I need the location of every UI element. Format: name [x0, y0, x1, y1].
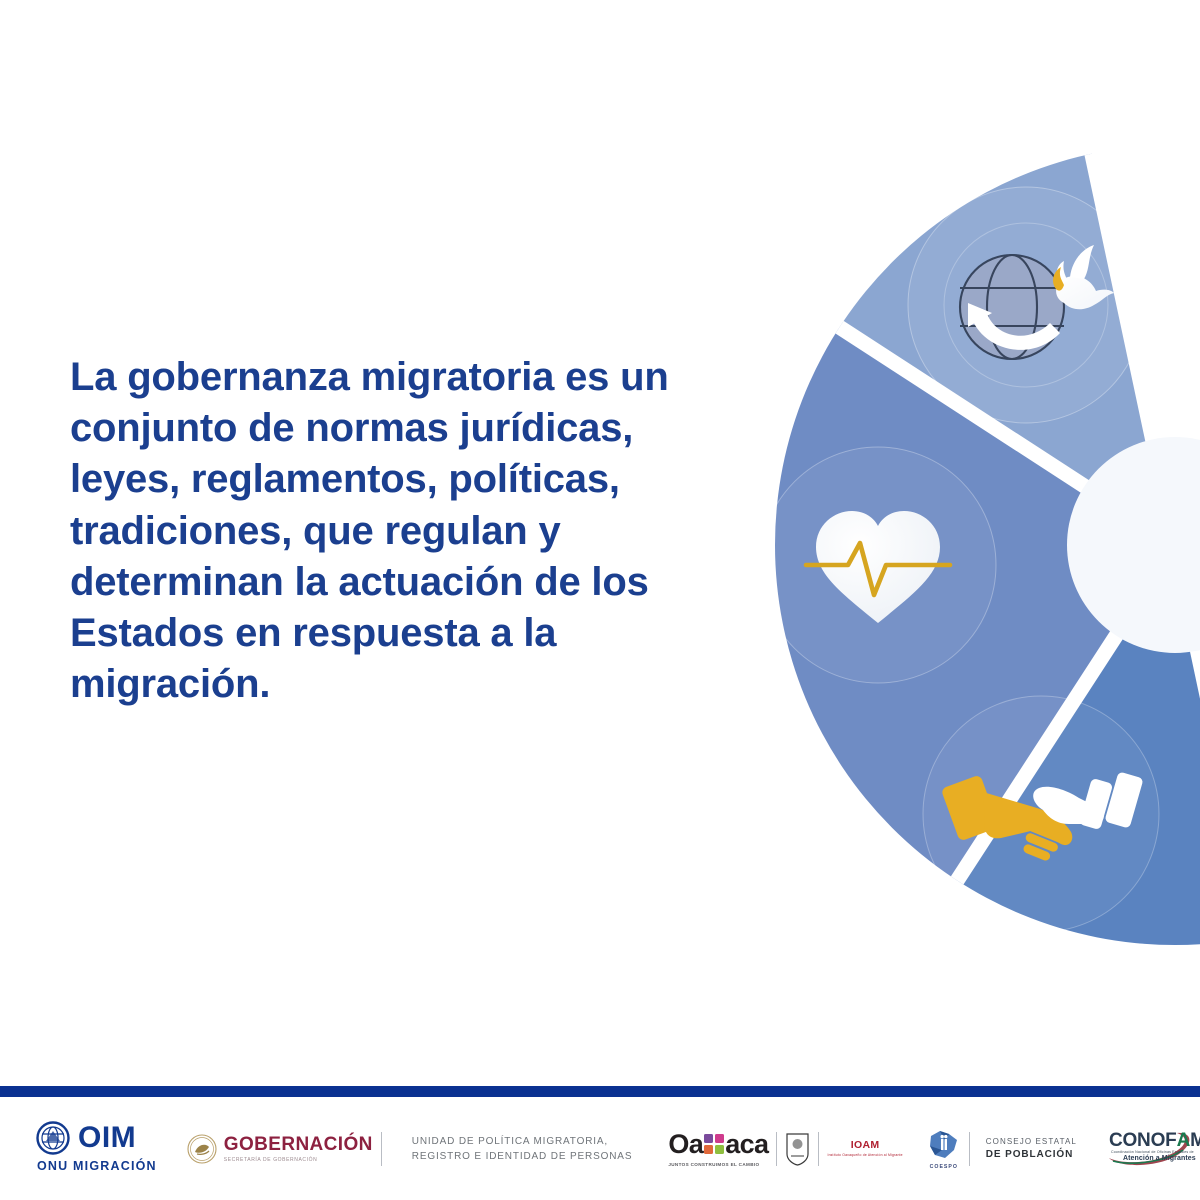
coespo-line-2: DE POBLACIÓN [986, 1148, 1077, 1162]
logo-gobernacion: GOBERNACIÓN SECRETARÍA DE GOBERNACIÓN [187, 1121, 373, 1177]
wheel-segment-agreement [891, 545, 1200, 945]
wheel-segment-health [775, 261, 1200, 914]
ioam-wordmark: IOAM [851, 1139, 880, 1151]
logo-unidad-politica-migratoria: UNIDAD DE POLÍTICA MIGRATORIA, REGISTRO … [412, 1121, 633, 1177]
wheel-spokes [825, 145, 1200, 945]
coespo-line-1: CONSEJO ESTATAL [986, 1136, 1077, 1148]
page-title: La gobernanza migratoria es un conjunto … [70, 352, 730, 710]
conofam-part1: CONOF [1109, 1130, 1177, 1151]
flame-accent [1053, 267, 1064, 291]
logo-separator [381, 1132, 382, 1166]
oim-globe-icon [36, 1121, 70, 1155]
ioam-tagline: Instituto Oaxaqueño de Atención al Migra… [827, 1153, 902, 1158]
oaxaca-word-part2: aca [725, 1131, 768, 1158]
oaxaca-x-icon [704, 1134, 724, 1154]
conofam-tagline-small: Coordinación Nacional de Oficinas Estata… [1111, 1150, 1194, 1154]
poster-canvas: La gobernanza migratoria es un conjunto … [0, 0, 1200, 1200]
globe-dove-icon [908, 187, 1144, 423]
pulse-line [806, 543, 950, 595]
oim-tagline: ONU MIGRACIÓN [37, 1159, 157, 1173]
dove-icon [1053, 245, 1114, 309]
unidad-line-2: REGISTRO E IDENTIDAD DE PERSONAS [412, 1149, 633, 1164]
logo-oaxaca: Oa aca JUNTOS CONSTRUIMOS EL CAMBIO IOAM… [668, 1121, 902, 1177]
logo-oim: OIM ONU MIGRACIÓN [36, 1121, 157, 1177]
wheel-hub [1067, 437, 1200, 653]
migration-governance-wheel [775, 145, 1200, 945]
gobernacion-tagline: SECRETARÍA DE GOBERNACIÓN [224, 1157, 373, 1163]
logo-conofam: CONOFAM Coordinación Nacional de Oficina… [1103, 1121, 1200, 1177]
conofam-wordmark: CONOFAM [1109, 1131, 1200, 1150]
coespo-mark-icon [927, 1128, 961, 1162]
oaxaca-shield-icon [785, 1132, 810, 1166]
logo-ioam: IOAM Instituto Oaxaqueño de Atención al … [827, 1139, 902, 1158]
logo-coespo: COESPO CONSEJO ESTATAL DE POBLACIÓN [927, 1121, 1077, 1177]
conofam-tagline-main: Atención a Migrantes [1123, 1155, 1196, 1162]
oaxaca-word-part1: Oa [668, 1131, 703, 1158]
oaxaca-wordmark: Oa aca [668, 1131, 768, 1158]
wheel-segment-globe [806, 145, 1175, 605]
logo-separator [776, 1132, 777, 1166]
gobernacion-wordmark: GOBERNACIÓN [224, 1135, 373, 1154]
coespo-mark-label: COESPO [930, 1164, 958, 1170]
unidad-line-1: UNIDAD DE POLÍTICA MIGRATORIA, [412, 1134, 633, 1149]
footer-divider-rule [0, 1086, 1200, 1097]
logo-separator [969, 1132, 970, 1166]
handshake-icon [923, 696, 1159, 932]
oim-wordmark: OIM [78, 1123, 136, 1153]
mexico-seal-icon [187, 1134, 217, 1164]
heart-pulse-icon [775, 447, 996, 683]
oaxaca-tagline: JUNTOS CONSTRUIMOS EL CAMBIO [668, 1162, 768, 1167]
conofam-part3: M [1190, 1130, 1200, 1151]
footer-logo-strip: OIM ONU MIGRACIÓN GOBERNACIÓN SECRETARÍA… [0, 1097, 1200, 1200]
conofam-part2: A [1177, 1130, 1191, 1151]
logo-separator [818, 1132, 819, 1166]
